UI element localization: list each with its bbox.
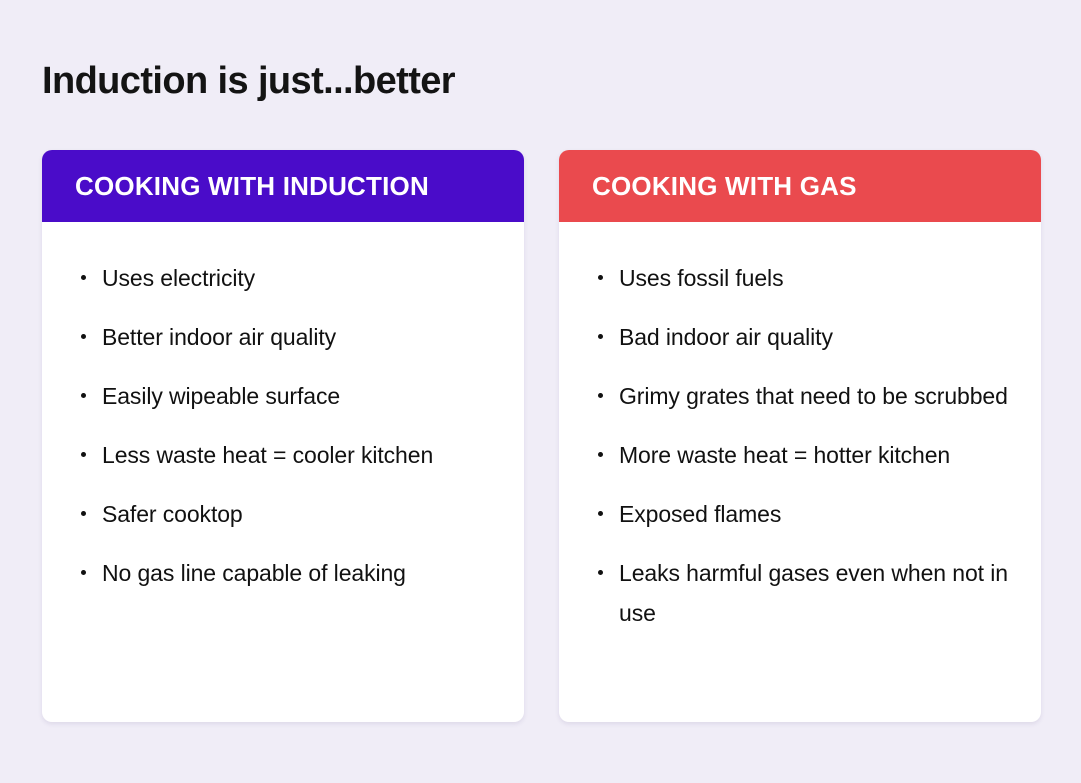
bullet-dot-icon (598, 334, 603, 339)
list-item: Grimy grates that need to be scrubbed (589, 376, 1011, 416)
list-item-text: Uses electricity (102, 265, 255, 291)
list-item-text: Leaks harmful gases even when not in use (619, 560, 1008, 626)
list-item-text: Bad indoor air quality (619, 324, 833, 350)
bullet-dot-icon (598, 511, 603, 516)
bullet-dot-icon (598, 452, 603, 457)
list-item-text: Safer cooktop (102, 501, 243, 527)
list-item-text: Better indoor air quality (102, 324, 336, 350)
list-item-text: Easily wipeable surface (102, 383, 340, 409)
bullet-list-induction: Uses electricity Better indoor air quali… (72, 258, 494, 593)
bullet-dot-icon (81, 511, 86, 516)
list-item-text: Exposed flames (619, 501, 781, 527)
card-header-gas: COOKING WITH GAS (559, 150, 1041, 222)
list-item-text: More waste heat = hotter kitchen (619, 442, 950, 468)
card-gas: COOKING WITH GAS Uses fossil fuels Bad i… (559, 150, 1041, 722)
card-body-induction: Uses electricity Better indoor air quali… (42, 222, 524, 722)
list-item-text: Uses fossil fuels (619, 265, 783, 291)
bullet-dot-icon (598, 570, 603, 575)
bullet-dot-icon (81, 275, 86, 280)
card-header-label-induction: COOKING WITH INDUCTION (75, 171, 429, 201)
list-item: Leaks harmful gases even when not in use (589, 553, 1011, 633)
bullet-dot-icon (81, 393, 86, 398)
bullet-dot-icon (598, 275, 603, 280)
list-item: More waste heat = hotter kitchen (589, 435, 1011, 475)
bullet-dot-icon (598, 393, 603, 398)
list-item: Better indoor air quality (72, 317, 494, 357)
list-item: Uses fossil fuels (589, 258, 1011, 298)
card-header-induction: COOKING WITH INDUCTION (42, 150, 524, 222)
card-header-label-gas: COOKING WITH GAS (592, 171, 857, 201)
list-item-text: No gas line capable of leaking (102, 560, 406, 586)
list-item: Uses electricity (72, 258, 494, 298)
list-item: Exposed flames (589, 494, 1011, 534)
list-item: No gas line capable of leaking (72, 553, 494, 593)
comparison-cards-container: COOKING WITH INDUCTION Uses electricity … (42, 150, 1041, 722)
bullet-dot-icon (81, 570, 86, 575)
bullet-list-gas: Uses fossil fuels Bad indoor air quality… (589, 258, 1011, 633)
comparison-infographic: Induction is just...better COOKING WITH … (0, 0, 1081, 783)
list-item-text: Less waste heat = cooler kitchen (102, 442, 433, 468)
bullet-dot-icon (81, 334, 86, 339)
list-item: Easily wipeable surface (72, 376, 494, 416)
list-item: Bad indoor air quality (589, 317, 1011, 357)
list-item-text: Grimy grates that need to be scrubbed (619, 383, 1008, 409)
card-induction: COOKING WITH INDUCTION Uses electricity … (42, 150, 524, 722)
list-item: Less waste heat = cooler kitchen (72, 435, 494, 475)
bullet-dot-icon (81, 452, 86, 457)
card-body-gas: Uses fossil fuels Bad indoor air quality… (559, 222, 1041, 722)
list-item: Safer cooktop (72, 494, 494, 534)
page-title: Induction is just...better (42, 58, 455, 104)
